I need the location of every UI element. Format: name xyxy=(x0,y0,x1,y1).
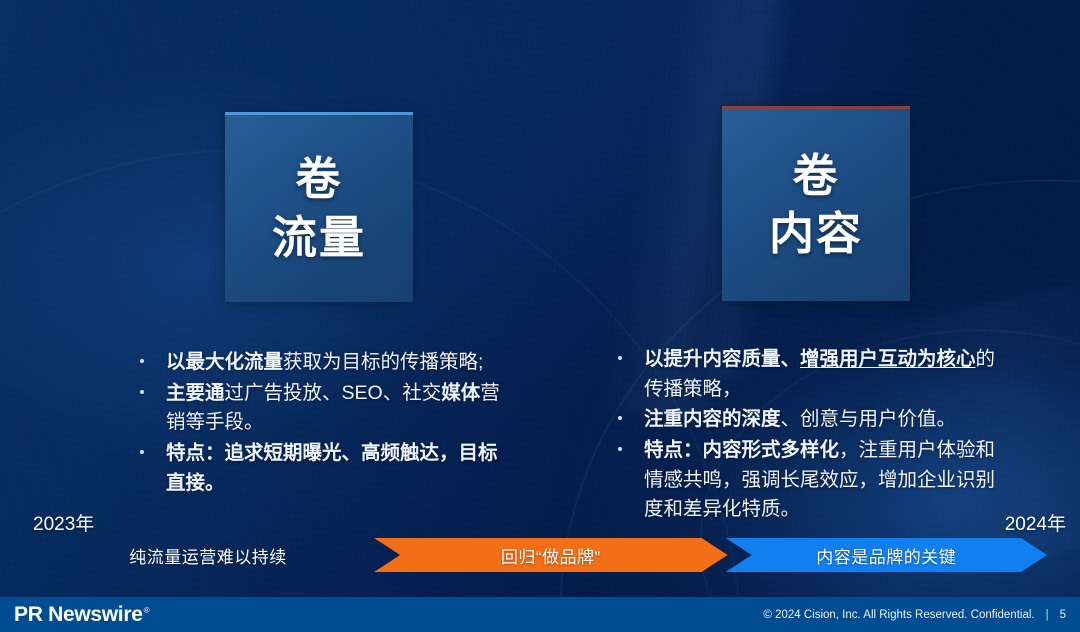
timeline-segment-2[interactable]: 回归“做品牌” xyxy=(374,538,728,572)
bullet-item: 主要通过广告投放、SEO、社交媒体营销等手段。 xyxy=(140,379,510,438)
bullet-text: 以最大化流量获取为目标的传播策略; xyxy=(166,348,510,378)
timeline-segment-1[interactable]: 纯流量运营难以持续 xyxy=(40,538,376,572)
slide-footer: PR Newswire® © 2024 Cision, Inc. All Rig… xyxy=(0,597,1080,632)
copyright-text: © 2024 Cision, Inc. All Rights Reserved.… xyxy=(763,609,1034,621)
timeline-year-start: 2023年 xyxy=(33,509,94,536)
concept-card-traffic-line2: 流量 xyxy=(272,209,366,268)
footer-meta: © 2024 Cision, Inc. All Rights Reserved.… xyxy=(763,609,1066,621)
bullet-text-run: 注重内容的深度 xyxy=(644,408,781,430)
bullet-item: 特点：追求短期曝光、高频触达，目标直接。 xyxy=(140,439,510,498)
bullet-item: 以最大化流量获取为目标的传播策略; xyxy=(140,348,510,378)
bullet-dot-icon xyxy=(140,348,166,363)
bullet-text-run: 媒体 xyxy=(441,382,480,404)
timeline-segment-3[interactable]: 内容是品牌的关键 xyxy=(726,538,1047,572)
bullet-text: 以提升内容质量、增强用户互动为核心的传播策略， xyxy=(644,345,1008,404)
bullet-text: 主要通过广告投放、SEO、社交媒体营销等手段。 xyxy=(166,379,510,438)
bullet-text-run: 特点：内容形式多样化 xyxy=(644,439,839,461)
slide-canvas: 卷 流量 卷 内容 以最大化流量获取为目标的传播策略;主要通过广告投放、SEO、… xyxy=(0,0,1080,632)
timeline-year-end: 2024年 xyxy=(1005,509,1066,536)
bullet-text-run: 主要通 xyxy=(166,382,225,404)
bullet-item: 注重内容的深度、创意与用户价值。 xyxy=(618,405,1008,435)
concept-card-content-line2: 内容 xyxy=(769,205,863,264)
bullet-item: 特点：内容形式多样化，注重用户体验和情感共鸣，强调长尾效应，增加企业识别度和差异… xyxy=(618,436,1008,525)
page-number: 5 xyxy=(1060,609,1066,621)
bullet-list-content: 以提升内容质量、增强用户互动为核心的传播策略，注重内容的深度、创意与用户价值。特… xyxy=(618,345,1008,526)
bullet-text: 特点：追求短期曝光、高频触达，目标直接。 xyxy=(166,439,510,498)
bullet-dot-icon xyxy=(618,405,644,420)
concept-card-traffic: 卷 流量 xyxy=(225,112,413,302)
bullet-item: 以提升内容质量、增强用户互动为核心的传播策略， xyxy=(618,345,1008,404)
bullet-text-run: 增强用户互动为核心 xyxy=(800,348,976,370)
bullet-text-run: 以提升内容质量、 xyxy=(644,348,800,370)
bullet-dot-icon xyxy=(618,436,644,451)
bullet-dot-icon xyxy=(140,379,166,394)
bullet-text-run: 、创意与用户价值。 xyxy=(781,408,957,430)
concept-card-content: 卷 内容 xyxy=(722,106,910,301)
concept-card-content-line1: 卷 xyxy=(792,147,839,206)
timeline-segment-2-label: 回归“做品牌” xyxy=(501,543,601,568)
timeline-banner: 纯流量运营难以持续 回归“做品牌” 内容是品牌的关键 xyxy=(40,538,1047,572)
bullet-text-run: 以最大化流量 xyxy=(166,351,283,373)
bullet-text: 特点：内容形式多样化，注重用户体验和情感共鸣，强调长尾效应，增加企业识别度和差异… xyxy=(644,436,1008,525)
bullet-text-run: 过广告投放、SEO、社交 xyxy=(225,382,442,404)
footer-divider: | xyxy=(1046,609,1049,621)
bullet-dot-icon xyxy=(140,439,166,454)
concept-card-traffic-line1: 卷 xyxy=(295,150,342,209)
timeline-segment-3-label: 内容是品牌的关键 xyxy=(816,543,956,568)
bullet-text-run: 获取为目标的传播策略; xyxy=(283,351,483,373)
bullet-list-traffic: 以最大化流量获取为目标的传播策略;主要通过广告投放、SEO、社交媒体营销等手段。… xyxy=(140,348,510,499)
registered-trademark-icon: ® xyxy=(144,606,150,615)
pr-newswire-logo-text: PR Newswire xyxy=(14,603,143,626)
bullet-text-run: 特点：追求短期曝光、高频触达， xyxy=(166,442,459,464)
bullet-dot-icon xyxy=(618,345,644,360)
pr-newswire-logo: PR Newswire® xyxy=(14,603,149,627)
bullet-text: 注重内容的深度、创意与用户价值。 xyxy=(644,405,1008,435)
timeline-segment-1-label: 纯流量运营难以持续 xyxy=(129,543,287,568)
